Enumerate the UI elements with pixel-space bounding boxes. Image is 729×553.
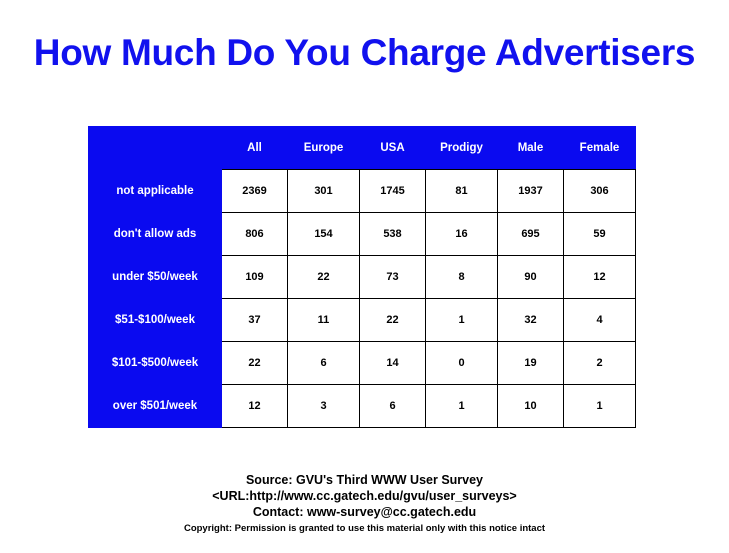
column-header-female: Female [564, 127, 636, 170]
table-row: $101-$500/week 22 6 14 0 19 2 [89, 342, 636, 385]
table-cell: 11 [288, 299, 360, 342]
table-cell: 1937 [498, 170, 564, 213]
table-cell: 73 [360, 256, 426, 299]
table-cell: 538 [360, 213, 426, 256]
table-corner-header [89, 127, 222, 170]
row-label: $51-$100/week [89, 299, 222, 342]
table-cell: 81 [426, 170, 498, 213]
table-row: not applicable 2369 301 1745 81 1937 306 [89, 170, 636, 213]
table-cell: 22 [288, 256, 360, 299]
table-cell: 6 [288, 342, 360, 385]
row-label: don't allow ads [89, 213, 222, 256]
column-header-prodigy: Prodigy [426, 127, 498, 170]
footer-copyright: Copyright: Permission is granted to use … [0, 520, 729, 536]
table-cell: 22 [222, 342, 288, 385]
table-cell: 8 [426, 256, 498, 299]
table-cell: 2369 [222, 170, 288, 213]
table-cell: 695 [498, 213, 564, 256]
table-cell: 2 [564, 342, 636, 385]
survey-table-container: All Europe USA Prodigy Male Female not a… [88, 126, 622, 423]
table-cell: 6 [360, 385, 426, 428]
column-header-male: Male [498, 127, 564, 170]
table-cell: 806 [222, 213, 288, 256]
table-cell: 306 [564, 170, 636, 213]
column-header-all: All [222, 127, 288, 170]
table-cell: 22 [360, 299, 426, 342]
table-cell: 90 [498, 256, 564, 299]
table-cell: 10 [498, 385, 564, 428]
table-header-row: All Europe USA Prodigy Male Female [89, 127, 636, 170]
table-row: under $50/week 109 22 73 8 90 12 [89, 256, 636, 299]
table-cell: 16 [426, 213, 498, 256]
table-cell: 59 [564, 213, 636, 256]
table-cell: 109 [222, 256, 288, 299]
column-header-usa: USA [360, 127, 426, 170]
table-cell: 0 [426, 342, 498, 385]
table-cell: 12 [222, 385, 288, 428]
row-label: under $50/week [89, 256, 222, 299]
table-row: don't allow ads 806 154 538 16 695 59 [89, 213, 636, 256]
footer-source: Source: GVU's Third WWW User Survey [0, 472, 729, 488]
table-cell: 1 [564, 385, 636, 428]
table-cell: 3 [288, 385, 360, 428]
footer: Source: GVU's Third WWW User Survey <URL… [0, 472, 729, 536]
footer-contact: Contact: www-survey@cc.gatech.edu [0, 504, 729, 520]
table-row: $51-$100/week 37 11 22 1 32 4 [89, 299, 636, 342]
table-cell: 301 [288, 170, 360, 213]
table-header: All Europe USA Prodigy Male Female [89, 127, 636, 170]
table-cell: 37 [222, 299, 288, 342]
table-cell: 1 [426, 299, 498, 342]
table-cell: 154 [288, 213, 360, 256]
survey-table: All Europe USA Prodigy Male Female not a… [88, 126, 636, 428]
table-row: over $501/week 12 3 6 1 10 1 [89, 385, 636, 428]
row-label: over $501/week [89, 385, 222, 428]
row-label: $101-$500/week [89, 342, 222, 385]
table-cell: 14 [360, 342, 426, 385]
table-cell: 4 [564, 299, 636, 342]
table-cell: 32 [498, 299, 564, 342]
table-cell: 1745 [360, 170, 426, 213]
table-cell: 19 [498, 342, 564, 385]
table-cell: 1 [426, 385, 498, 428]
table-cell: 12 [564, 256, 636, 299]
column-header-europe: Europe [288, 127, 360, 170]
row-label: not applicable [89, 170, 222, 213]
table-body: not applicable 2369 301 1745 81 1937 306… [89, 170, 636, 428]
footer-url: <URL:http://www.cc.gatech.edu/gvu/user_s… [0, 488, 729, 504]
page-title: How Much Do You Charge Advertisers [0, 32, 729, 74]
